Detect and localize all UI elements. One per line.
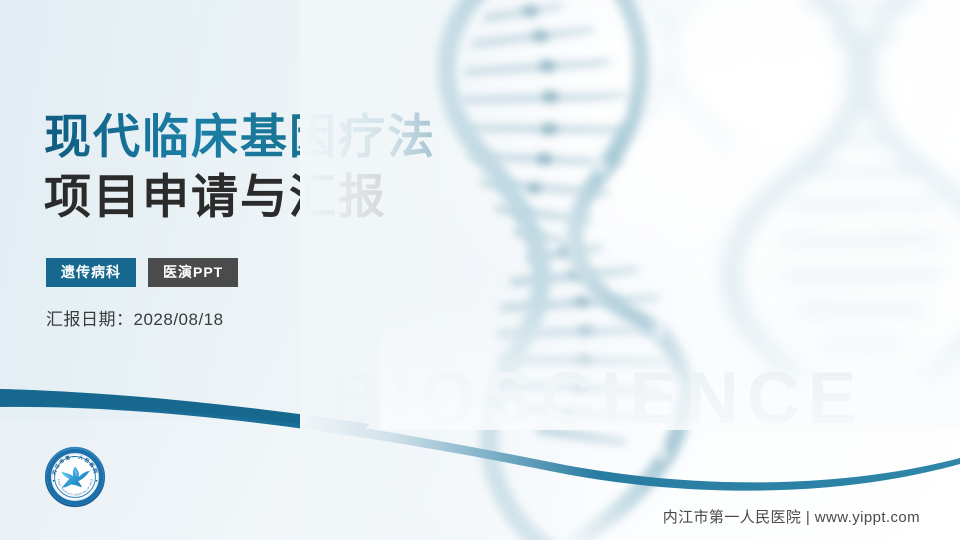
hospital-logo: 内江市第一人民医院 THE FIRST PEOPLE'S HOSPITAL OF… xyxy=(44,446,106,508)
tag-template-brand[interactable]: 医演PPT xyxy=(148,258,238,287)
slide-title-line-2: 项目申请与汇报 xyxy=(44,172,387,223)
slide-title-line-1: 现代临床基因疗法 xyxy=(44,112,436,163)
tag-department[interactable]: 遗传病科 xyxy=(46,258,136,287)
report-date: 汇报日期：2028/08/18 xyxy=(46,305,224,330)
footer-credit: 内江市第一人民医院 | www.yippt.com xyxy=(0,506,920,527)
tag-group: 遗传病科 医演PPT xyxy=(46,258,238,287)
presentation-title-slide: BIOSCIENCE 现代临床基因疗法 项目申请与汇报 遗传病科 医演PPT 汇… xyxy=(0,0,960,540)
